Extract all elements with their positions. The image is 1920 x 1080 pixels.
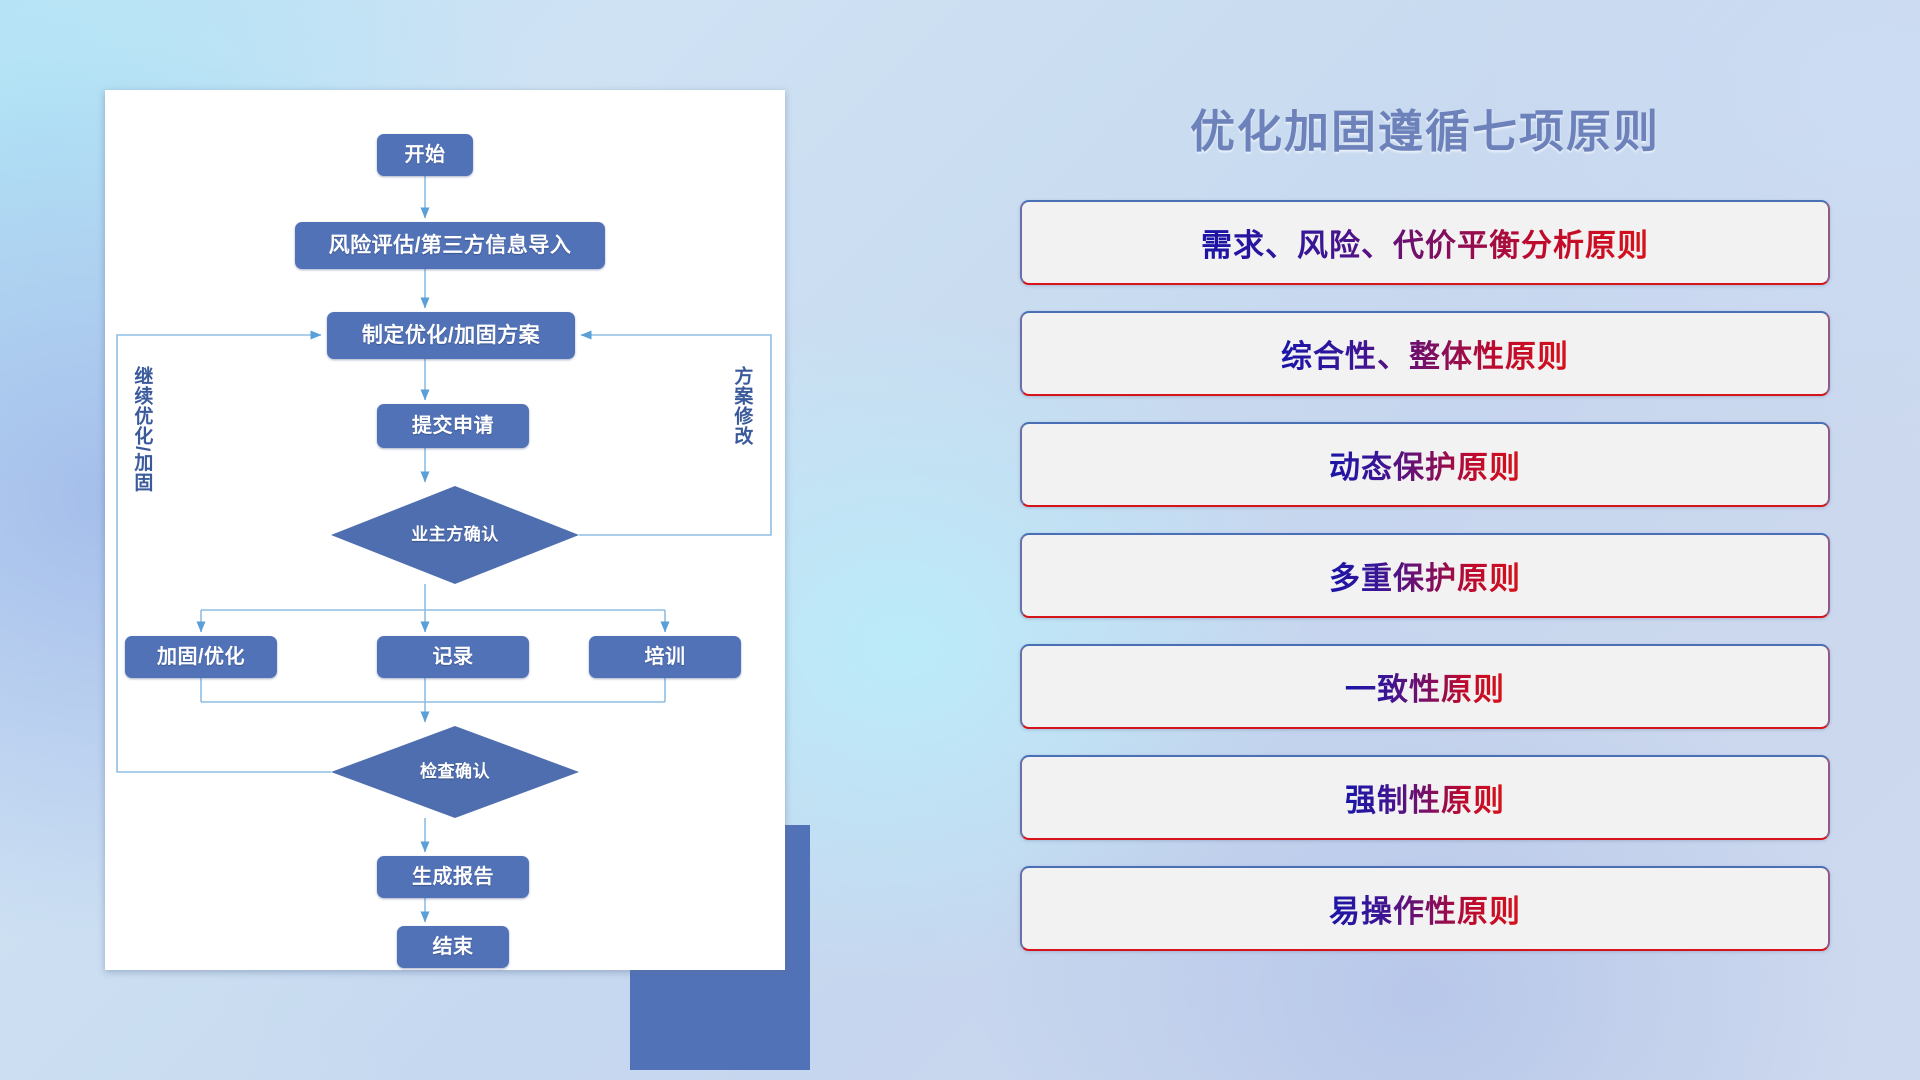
principle-card-label: 强制性原则 [1345,775,1505,820]
flow-node-end[interactable]: 结束 [397,926,509,968]
principle-card-label: 综合性、整体性原则 [1281,331,1569,376]
flow-node-training[interactable]: 培训 [589,636,741,678]
principle-card-7[interactable]: 易操作性原则 [1020,866,1830,951]
flow-node-risk-assessment[interactable]: 风险评估/第三方信息导入 [295,222,605,269]
flow-label-plan-revision: 方案修改 [732,366,751,446]
principle-card-1[interactable]: 需求、风险、代价平衡分析原则 [1020,200,1830,285]
principle-card-label: 多重保护原则 [1329,553,1521,598]
principle-card-3[interactable]: 动态保护原则 [1020,422,1830,507]
principle-card-label: 需求、风险、代价平衡分析原则 [1201,220,1649,265]
principle-card-label: 易操作性原则 [1329,886,1521,931]
flowchart-white-card: 开始 风险评估/第三方信息导入 制定优化/加固方案 提交申请 业主方确认 加固/… [105,90,785,970]
principle-card-label: 一致性原则 [1345,664,1505,709]
principles-title: 优化加固遵循七项原则 [1020,95,1830,160]
flow-label-continue-optimize: 继续优化/加固 [132,366,151,492]
principle-card-6[interactable]: 强制性原则 [1020,755,1830,840]
principles-section: 优化加固遵循七项原则 需求、风险、代价平衡分析原则 综合性、整体性原则 动态保护… [1020,95,1830,1005]
flowchart-panel: 开始 风险评估/第三方信息导入 制定优化/加固方案 提交申请 业主方确认 加固/… [105,90,805,970]
flow-node-make-plan[interactable]: 制定优化/加固方案 [327,312,575,359]
flow-node-owner-confirm[interactable]: 业主方确认 [331,514,579,556]
principle-card-5[interactable]: 一致性原则 [1020,644,1830,729]
principles-card-list: 需求、风险、代价平衡分析原则 综合性、整体性原则 动态保护原则 多重保护原则 一… [1020,200,1830,977]
flow-node-reinforce-optimize[interactable]: 加固/优化 [125,636,277,678]
principle-card-4[interactable]: 多重保护原则 [1020,533,1830,618]
flow-node-final-check[interactable]: 检查确认 [331,751,579,793]
principle-card-label: 动态保护原则 [1329,442,1521,487]
flow-node-generate-report[interactable]: 生成报告 [377,856,529,898]
principle-card-2[interactable]: 综合性、整体性原则 [1020,311,1830,396]
flow-node-record[interactable]: 记录 [377,636,529,678]
flowchart-diagram: 开始 风险评估/第三方信息导入 制定优化/加固方案 提交申请 业主方确认 加固/… [105,90,785,970]
flow-node-submit-application[interactable]: 提交申请 [377,404,529,448]
flow-node-start[interactable]: 开始 [377,134,473,176]
